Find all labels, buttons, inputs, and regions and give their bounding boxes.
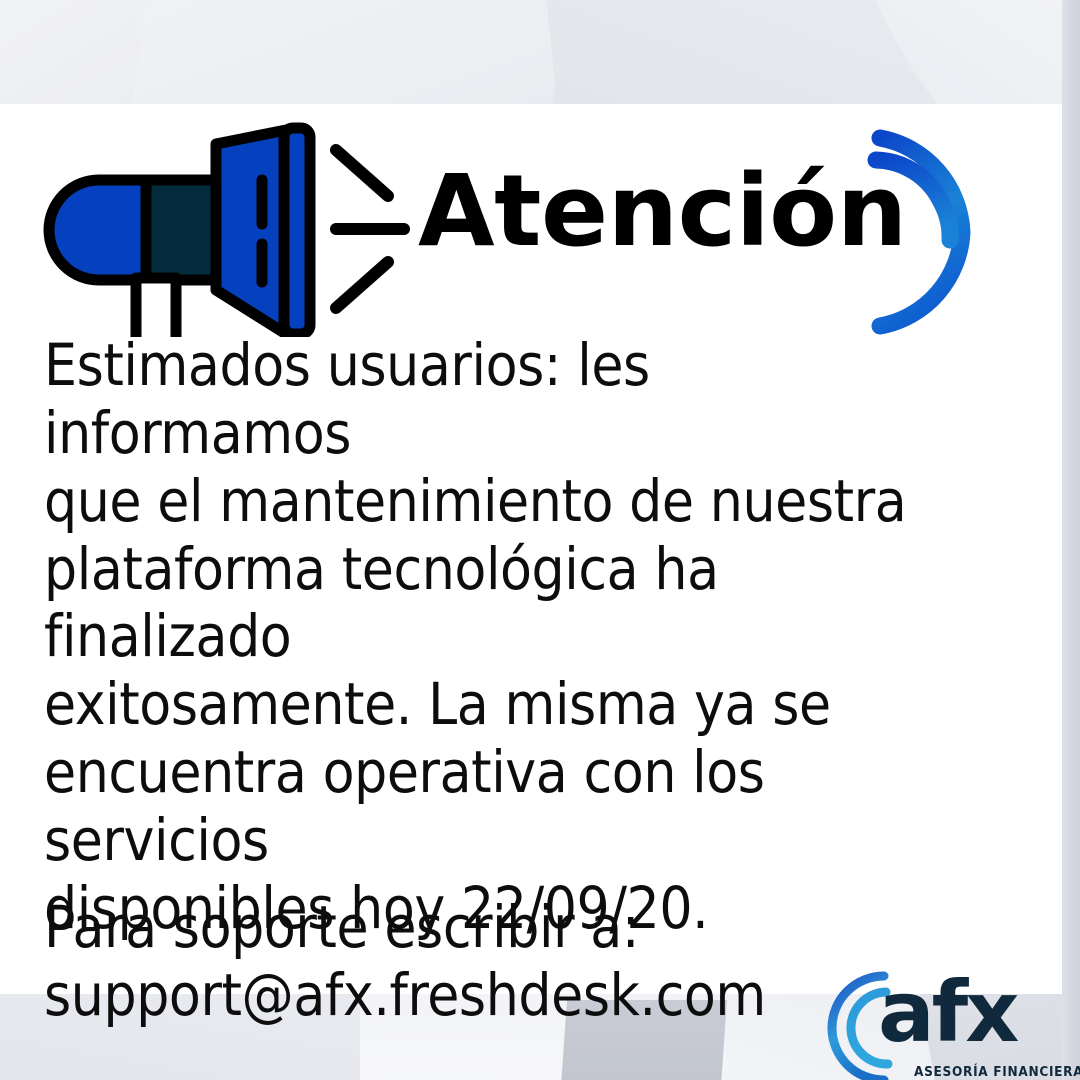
support-contact-block: Para soporte escribir a: support@afx.fre… xyxy=(44,894,844,1030)
logo-wordmark: afx xyxy=(878,970,1016,1054)
body-line-5: encuentra operativa con los servicios xyxy=(44,739,964,875)
poster-canvas: Atención xyxy=(0,0,1080,1080)
page-title: Atención xyxy=(418,162,907,261)
body-line-1: Estimados usuarios: les informamos xyxy=(44,332,964,468)
body-line-2: que el mantenimiento de nuestra xyxy=(44,468,964,536)
right-edge-strip xyxy=(1062,0,1080,1080)
support-label: Para soporte escribir a: xyxy=(44,894,844,962)
body-line-3: plataforma tecnológica ha finalizado xyxy=(44,536,964,672)
megaphone-icon xyxy=(36,122,436,337)
announcement-card: Atención xyxy=(0,104,1062,994)
announcement-body: Estimados usuarios: les informamos que e… xyxy=(44,332,964,943)
sound-wave-arcs-icon xyxy=(862,122,1022,342)
support-email[interactable]: support@afx.freshdesk.com xyxy=(44,962,844,1030)
logo-tagline: ASESORÍA FINANCIERA xyxy=(914,1064,1080,1080)
card-header: Atención xyxy=(0,104,1062,339)
body-line-4: exitosamente. La misma ya se xyxy=(44,671,964,739)
afx-logo: afx ASESORÍA FINANCIERA xyxy=(818,962,1038,1080)
